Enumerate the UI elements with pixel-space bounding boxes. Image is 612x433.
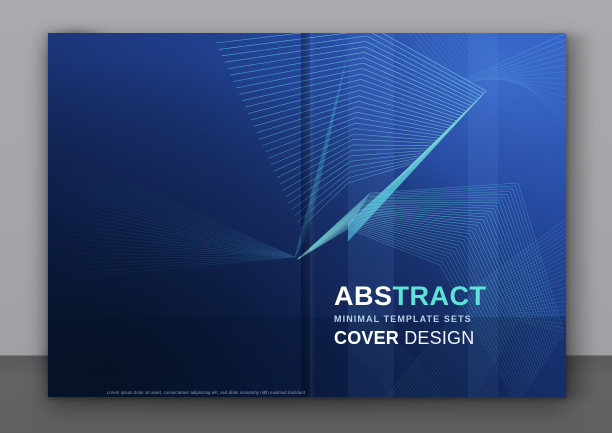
spine-fold-highlight bbox=[310, 33, 316, 397]
spine-fold-shadow bbox=[301, 33, 310, 397]
mockup-scene: ABSTRACT MINIMAL TEMPLATE SETS COVER DES… bbox=[0, 0, 612, 433]
brochure-cover[interactable]: ABSTRACT MINIMAL TEMPLATE SETS COVER DES… bbox=[48, 33, 566, 397]
